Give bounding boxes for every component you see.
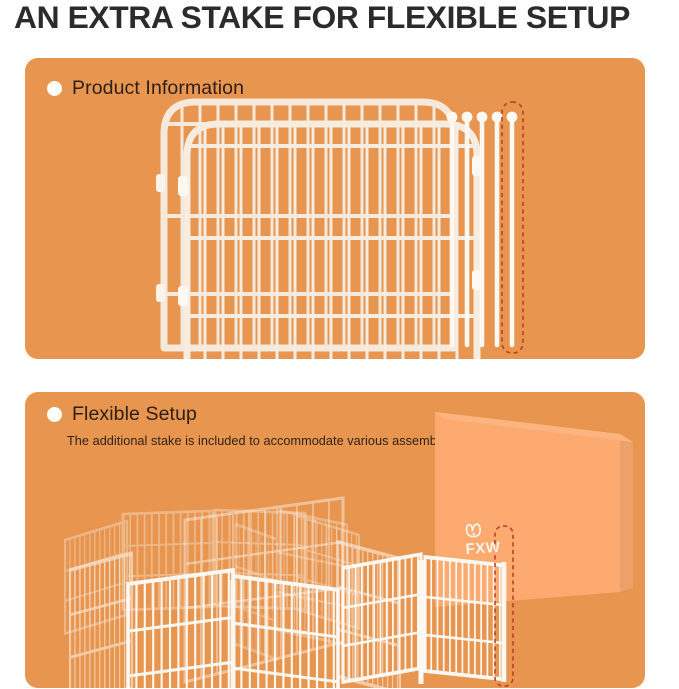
ground-stakes-illustration: [25, 58, 645, 359]
brand-logo: FXW: [464, 521, 501, 558]
wall: [435, 412, 633, 607]
pen-against-wall-illustration: [25, 392, 645, 688]
page-title: AN EXTRA STAKE FOR FLEXIBLE SETUP: [14, 0, 679, 36]
front-panel-left: [343, 554, 421, 682]
paw-mark-icon: [464, 522, 487, 541]
product-information-panel: Product Information: [25, 58, 645, 359]
brand-logo-text: FXW: [465, 539, 501, 558]
flexible-setup-panel: Flexible Setup The additional stake is i…: [25, 392, 645, 688]
